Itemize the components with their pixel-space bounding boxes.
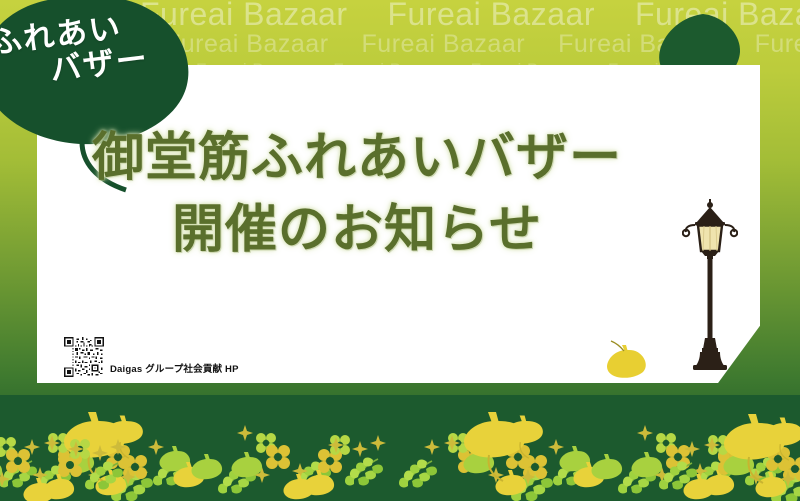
- qr-link-block[interactable]: Daigas グループ社会貢献 HP: [64, 337, 239, 377]
- poster-canvas: Fureai BazaarFureai BazaarFureai BazaarF…: [0, 0, 800, 501]
- title-line-2: 開催のお知らせ: [37, 200, 677, 260]
- loose-ginkgo-leaf-icon: [604, 336, 650, 380]
- title-line-1: 御堂筋ふれあいバザー: [37, 128, 677, 188]
- street-lamp-icon: [682, 199, 738, 371]
- qr-label: Daigas グループ社会貢献 HP: [110, 361, 239, 377]
- qr-code-icon[interactable]: [64, 337, 104, 377]
- band-foliage-pattern: [0, 395, 800, 501]
- bottom-decorative-band: [0, 395, 800, 501]
- poster-title: 御堂筋ふれあいバザー 開催のお知らせ: [37, 128, 677, 261]
